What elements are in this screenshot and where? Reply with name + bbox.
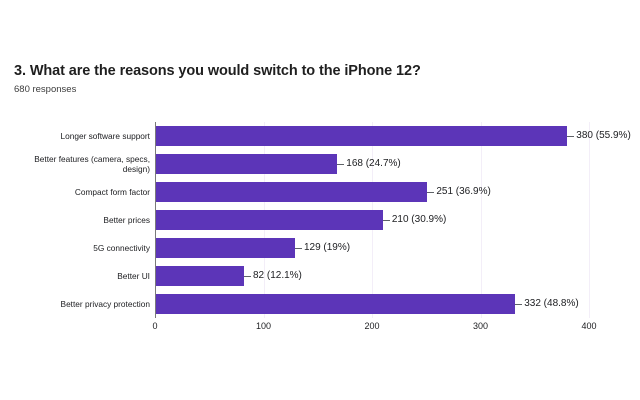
y-axis-label: Longer software support	[5, 122, 155, 150]
x-axis-tick-label: 400	[581, 321, 596, 332]
bar-track	[155, 126, 589, 146]
x-axis: 0100200300400	[155, 318, 589, 340]
y-axis-label: Better UI	[5, 262, 155, 290]
bar-row[interactable]: 210 (30.9%)	[155, 206, 589, 234]
y-axis-label-line: Longer software support	[61, 131, 150, 142]
bar-row[interactable]: 251 (36.9%)	[155, 178, 589, 206]
bar-track	[155, 294, 589, 314]
page-title: 3. What are the reasons you would switch…	[14, 62, 614, 80]
x-axis-tick-label: 0	[152, 321, 157, 332]
y-axis-label: 5G connectivity	[5, 234, 155, 262]
bar-row[interactable]: 332 (48.8%)	[155, 290, 589, 318]
bar[interactable]	[155, 210, 383, 230]
bar-row[interactable]: 380 (55.9%)	[155, 122, 589, 150]
bar-track	[155, 154, 589, 174]
y-axis-line	[155, 122, 156, 318]
bar-track	[155, 266, 589, 286]
y-axis-label-line: Better features (camera, specs,	[34, 154, 150, 165]
bar[interactable]	[155, 154, 337, 174]
y-axis-label: Better privacy protection	[5, 290, 155, 318]
bar-row[interactable]: 168 (24.7%)	[155, 150, 589, 178]
y-axis-label-line: Compact form factor	[75, 187, 150, 198]
plot-region: 380 (55.9%)168 (24.7%)251 (36.9%)210 (30…	[155, 122, 589, 318]
x-axis-tick-label: 300	[473, 321, 488, 332]
y-axis-label: Better prices	[5, 206, 155, 234]
y-axis-label-line: Better prices	[103, 215, 150, 226]
bar-track	[155, 182, 589, 202]
y-axis-category-labels: Longer software supportBetter features (…	[0, 122, 155, 318]
y-axis-label-line: Better privacy protection	[61, 299, 150, 310]
y-axis-label: Better features (camera, specs,design)	[5, 150, 155, 178]
bar-track	[155, 238, 589, 258]
y-axis-label-line: 5G connectivity	[93, 243, 150, 254]
bar[interactable]	[155, 294, 515, 314]
response-count: 680 responses	[14, 84, 614, 96]
bar[interactable]	[155, 126, 567, 146]
x-axis-tick-label: 200	[364, 321, 379, 332]
y-axis-label-line: Better UI	[117, 271, 150, 282]
question-header: 3. What are the reasons you would switch…	[14, 62, 614, 96]
bar-row[interactable]: 82 (12.1%)	[155, 262, 589, 290]
bar[interactable]	[155, 266, 244, 286]
x-axis-tick-label: 100	[256, 321, 271, 332]
y-axis-label: Compact form factor	[5, 178, 155, 206]
bar-track	[155, 210, 589, 230]
y-axis-label-line: design)	[123, 164, 150, 175]
bar[interactable]	[155, 238, 295, 258]
bar-chart: Longer software supportBetter features (…	[0, 118, 640, 338]
gridline	[589, 122, 590, 318]
bar-row[interactable]: 129 (19%)	[155, 234, 589, 262]
survey-result-card: 3. What are the reasons you would switch…	[0, 0, 640, 400]
bar[interactable]	[155, 182, 427, 202]
